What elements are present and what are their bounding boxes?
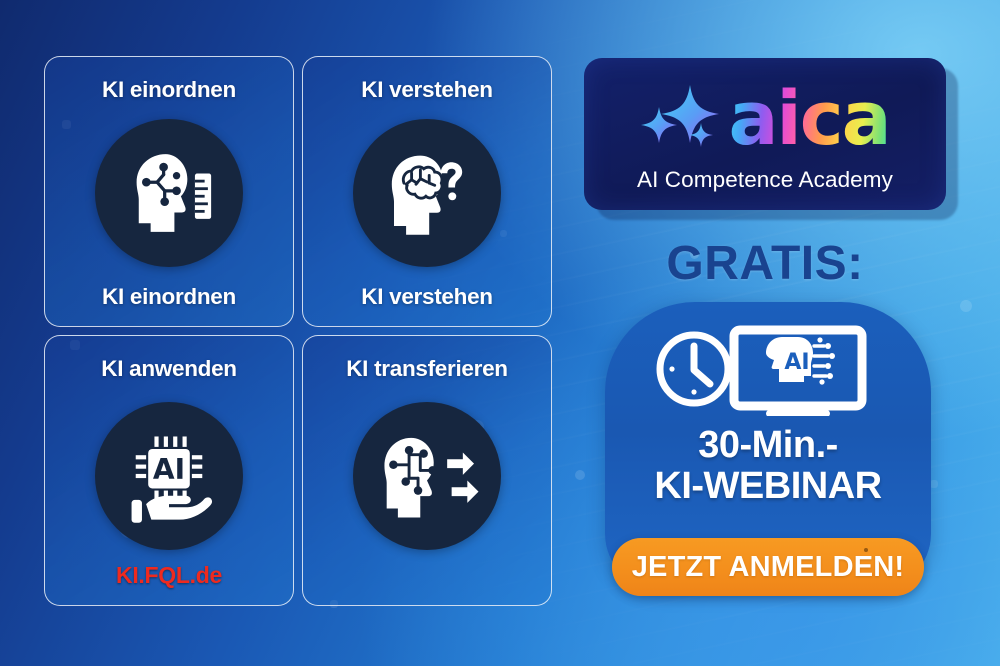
gratis-headline: GRATIS: (584, 236, 946, 291)
promo-banner: KI einordnen (0, 0, 1000, 666)
head-neural-arrows-icon (353, 402, 501, 550)
card-title: KI transferieren (346, 356, 508, 382)
svg-text:AI: AI (153, 453, 185, 486)
monitor-ai-head-icon: AI (734, 330, 862, 416)
clock-icon (660, 335, 728, 403)
card-ki-transferieren[interactable]: KI transferieren (302, 335, 552, 606)
card-title: KI einordnen (102, 77, 236, 103)
feature-card-grid: KI einordnen (44, 56, 552, 612)
register-button-label: JETZT ANMELDEN! (632, 551, 905, 584)
head-neural-ruler-icon (95, 119, 243, 267)
webinar-duration: 30-Min.- (698, 424, 838, 467)
svg-text:AI: AI (784, 350, 809, 375)
aica-logo: aica AI Competence Academy (584, 58, 946, 210)
card-subtitle: KI verstehen (303, 284, 551, 310)
card-title: KI anwenden (101, 356, 236, 382)
card-ki-verstehen[interactable]: KI verstehen KI verstehen (302, 56, 552, 327)
webinar-title: KI-WEBINAR (654, 465, 881, 508)
ai-chip-hand-icon: AI (95, 402, 243, 550)
card-title: KI verstehen (361, 77, 492, 103)
card-subtitle-brand: KI.FQL.de (45, 562, 293, 589)
logo-tagline: AI Competence Academy (637, 167, 893, 193)
clock-and-monitor-ai-icon: AI (648, 322, 888, 416)
logo-wordmark: aica (728, 86, 889, 153)
head-brain-question-icon (353, 119, 501, 267)
card-subtitle: KI einordnen (45, 284, 293, 310)
card-ki-einordnen[interactable]: KI einordnen (44, 56, 294, 327)
card-ki-anwenden[interactable]: KI anwenden (44, 335, 294, 606)
button-speck (864, 548, 868, 552)
sparkle-icon (640, 79, 726, 159)
register-button[interactable]: JETZT ANMELDEN! (612, 538, 924, 596)
